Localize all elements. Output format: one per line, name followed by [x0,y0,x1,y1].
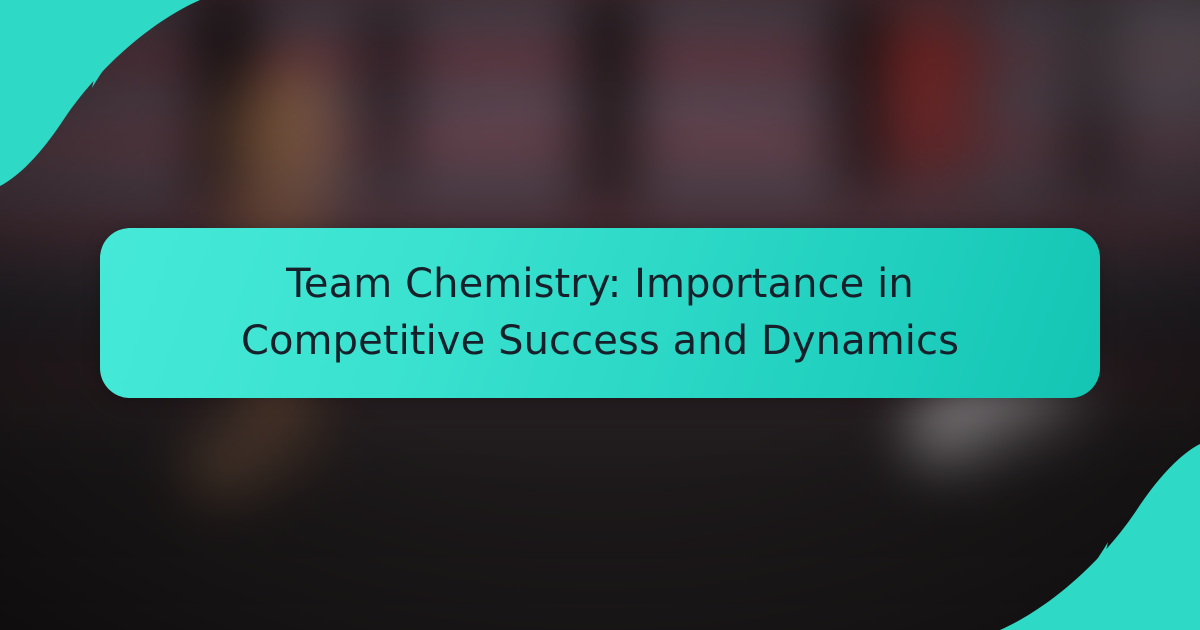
ring-post [362,2,411,193]
social-share-banner: Team Chemistry: Importance in Competitiv… [0,0,1200,630]
ring-post [579,0,638,212]
background-haze-right [971,0,1200,161]
background-haze-left [0,0,134,161]
page-title: Team Chemistry: Importance in Competitiv… [170,256,1030,370]
title-card: Team Chemistry: Importance in Competitiv… [100,228,1100,398]
